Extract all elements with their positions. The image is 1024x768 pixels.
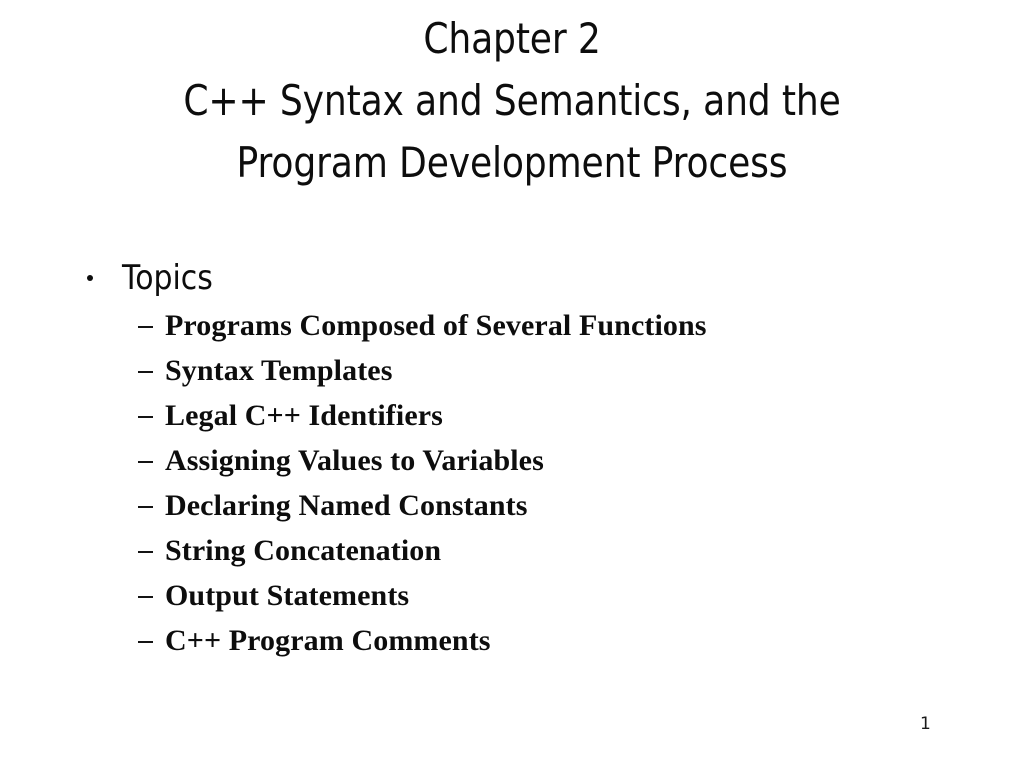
en-dash-icon [138, 506, 153, 508]
topics-list: Programs Composed of Several Functions S… [0, 306, 1024, 666]
en-dash-icon [138, 641, 153, 643]
topics-heading-label: Topics [122, 258, 213, 298]
topic-label-2: Syntax Templates [165, 351, 392, 391]
topic-label-7: Output Statements [165, 576, 409, 616]
en-dash-icon [138, 416, 153, 418]
list-item: Assigning Values to Variables [0, 441, 1024, 486]
en-dash-icon [138, 461, 153, 463]
topic-label-1: Programs Composed of Several Functions [165, 306, 707, 346]
list-item: Output Statements [0, 576, 1024, 621]
topic-label-3: Legal C++ Identifiers [165, 396, 443, 436]
list-item: Programs Composed of Several Functions [0, 306, 1024, 351]
bullet-dot-icon [87, 275, 93, 281]
page-number: 1 [920, 713, 960, 735]
topics-heading-item: Topics [0, 258, 1024, 304]
en-dash-icon [138, 596, 153, 598]
slide-title: Chapter 2 C++ Syntax and Semantics, and … [0, 8, 1024, 194]
list-item: Legal C++ Identifiers [0, 396, 1024, 441]
en-dash-icon [138, 371, 153, 373]
topic-label-5: Declaring Named Constants [165, 486, 528, 526]
list-item: Declaring Named Constants [0, 486, 1024, 531]
list-item: Syntax Templates [0, 351, 1024, 396]
topic-label-4: Assigning Values to Variables [165, 441, 544, 481]
en-dash-icon [138, 551, 153, 553]
title-line-3: Program Development Process [72, 132, 953, 194]
topic-label-8: C++ Program Comments [165, 621, 491, 661]
slide-canvas: Chapter 2 C++ Syntax and Semantics, and … [0, 0, 1024, 768]
en-dash-icon [138, 326, 153, 328]
list-item: C++ Program Comments [0, 621, 1024, 666]
title-line-1: Chapter 2 [72, 8, 953, 70]
list-item: String Concatenation [0, 531, 1024, 576]
topic-label-6: String Concatenation [165, 531, 441, 571]
title-line-2: C++ Syntax and Semantics, and the [72, 70, 953, 132]
slide-body: Topics Programs Composed of Several Func… [0, 258, 1024, 666]
